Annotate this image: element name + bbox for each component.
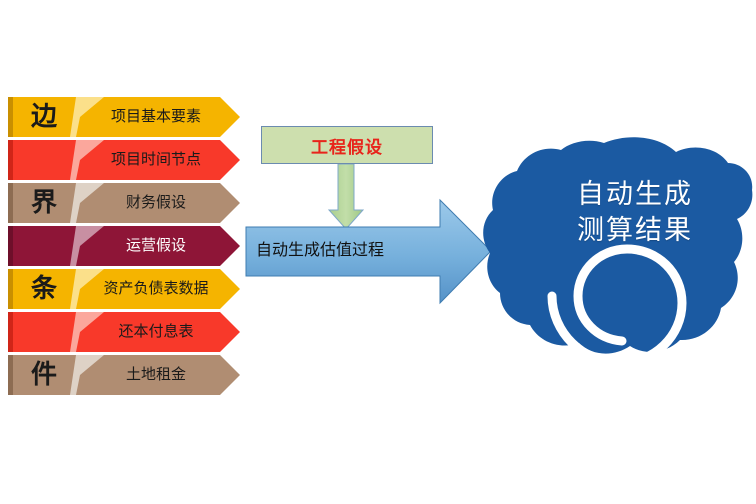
chevron-label: 项目时间节点 — [86, 140, 226, 180]
auto-valuation-process-label: 自动生成估值过程 — [256, 236, 452, 266]
chevron-label: 运营假设 — [86, 226, 226, 266]
chevron-label: 财务假设 — [86, 183, 226, 223]
engineering-assumption-label: 工程假设 — [311, 133, 383, 158]
chevron-label: 还本付息表 — [86, 312, 226, 352]
cloud-result-line-1: 自动生成 — [540, 176, 730, 212]
chevron-label: 土地租金 — [86, 355, 226, 395]
green-down-arrow — [329, 164, 363, 229]
cloud-result-text: 自动生成 测算结果 — [540, 176, 730, 248]
chevron-row[interactable]: 边项目基本要素 — [8, 97, 240, 137]
chevron-label: 项目基本要素 — [86, 97, 226, 137]
cloud-result-line-2: 测算结果 — [540, 212, 730, 248]
chevron-key-character: 条 — [14, 269, 74, 309]
chevron-key-character: 界 — [14, 183, 74, 223]
chevron-row[interactable]: 条资产负债表数据 — [8, 269, 240, 309]
result-cloud — [483, 137, 752, 363]
chevron-row[interactable]: 界财务假设 — [8, 183, 240, 223]
chevron-row[interactable]: 件土地租金 — [8, 355, 240, 395]
chevron-key-character: 件 — [14, 355, 74, 395]
chevron-key-character: 边 — [14, 97, 74, 137]
chevron-label: 资产负债表数据 — [86, 269, 226, 309]
engineering-assumption-box[interactable]: 工程假设 — [261, 126, 433, 164]
diagram-canvas: 边项目基本要素项目时间节点界财务假设运营假设条资产负债表数据还本付息表件土地租金 — [0, 0, 756, 504]
